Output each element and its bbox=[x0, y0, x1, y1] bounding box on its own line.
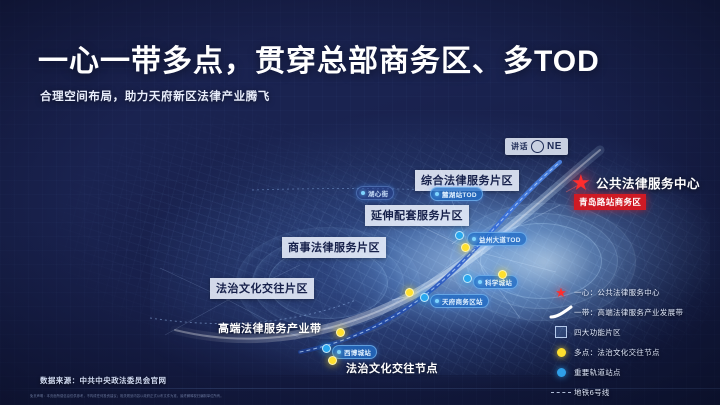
area-label-extended-support: 延伸配套服务片区 bbox=[365, 205, 469, 226]
logo-ne-text: NE bbox=[547, 141, 562, 152]
station-chip-label: 麓湖站TOD bbox=[442, 189, 477, 199]
blue-station-point-icon bbox=[420, 293, 429, 302]
legend-item-stations: 重要轨道站点 bbox=[548, 362, 713, 382]
legend-item-center: ★ 一心：公共法律服务中心 bbox=[548, 282, 713, 302]
qingdao-road-cbd-badge: 青岛路站商务区 bbox=[574, 194, 646, 210]
legend-label: 多点：法治文化交往节点 bbox=[574, 347, 660, 358]
yellow-node-point-icon bbox=[336, 328, 345, 337]
disclaimer-microprint: 免责声明：本页面所载信息仅供参考，不构成任何投资建议；相关规划内容以政府正式公布… bbox=[30, 394, 690, 399]
station-chip-label: 益州大道TOD bbox=[479, 234, 521, 244]
station-dot-icon bbox=[435, 192, 439, 196]
square-outline-icon bbox=[548, 326, 574, 338]
legend-label: 四大功能片区 bbox=[574, 327, 621, 338]
station-chip-label: 天府商务区站 bbox=[442, 296, 483, 306]
station-dot-icon bbox=[361, 191, 365, 195]
yellow-node-point-icon bbox=[405, 288, 414, 297]
legend-item-zones: 四大功能片区 bbox=[548, 322, 713, 342]
blue-station-point-icon bbox=[463, 274, 472, 283]
yellow-node-point-icon bbox=[498, 270, 507, 279]
data-source-note: 数据来源：中共中央政法委员会官网 bbox=[40, 375, 166, 386]
page-title: 一心一带多点，贯穿总部商务区、多TOD bbox=[38, 36, 600, 80]
station-chip-tianfu-cbd[interactable]: 天府商务区站 bbox=[430, 294, 489, 308]
legend: ★ 一心：公共法律服务中心 一带：高端法律服务产业发展带 四大功能片区 多点：法… bbox=[548, 282, 713, 402]
yellow-node-point-icon bbox=[328, 356, 337, 365]
station-chip-label: 西博城站 bbox=[344, 347, 371, 357]
area-label-high-end-belt: 高端法律服务产业带 bbox=[212, 318, 328, 339]
circle-o-icon bbox=[531, 140, 544, 153]
legend-item-metro: 地铁6号线 bbox=[548, 382, 713, 402]
station-chip-label: 湖心街 bbox=[368, 188, 388, 198]
legend-item-belt: 一带：高端法律服务产业发展带 bbox=[548, 302, 713, 322]
station-chip-huxinjie[interactable]: 湖心街 bbox=[356, 186, 394, 200]
station-dot-icon bbox=[435, 299, 439, 303]
dashed-line-icon bbox=[548, 392, 574, 393]
white-belt-icon bbox=[548, 305, 574, 319]
logo-cn-text: 讲话 bbox=[511, 141, 528, 152]
station-chip-science-city[interactable]: 科学城站 bbox=[473, 275, 518, 289]
page-subtitle: 合理空间布局，助力天府新区法律产业腾飞 bbox=[40, 88, 270, 104]
center-callout-label: 公共法律服务中心 bbox=[596, 173, 700, 192]
red-star-icon: ★ bbox=[571, 172, 593, 194]
legend-item-nodes: 多点：法治文化交往节点 bbox=[548, 342, 713, 362]
yellow-node-point-icon bbox=[461, 243, 470, 252]
footer-divider bbox=[0, 388, 720, 389]
station-dot-icon bbox=[337, 350, 341, 354]
blue-station-point-icon bbox=[455, 231, 464, 240]
blue-dot-icon bbox=[548, 368, 574, 377]
legend-label: 重要轨道站点 bbox=[574, 367, 621, 378]
yellow-dot-icon bbox=[548, 348, 574, 357]
station-chip-luhu-tod[interactable]: 麓湖站TOD bbox=[430, 187, 483, 201]
area-label-commercial-legal: 商事法律服务片区 bbox=[282, 237, 386, 258]
blue-station-point-icon bbox=[322, 344, 331, 353]
legend-label: 一带：高端法律服务产业发展带 bbox=[574, 307, 683, 318]
area-label-rule-of-law-culture: 法治文化交往片区 bbox=[210, 278, 314, 299]
station-chip-xiboCheng[interactable]: 西博城站 bbox=[332, 345, 377, 359]
station-chip-label: 科学城站 bbox=[485, 277, 512, 287]
station-dot-icon bbox=[478, 280, 482, 284]
station-dot-icon bbox=[472, 237, 476, 241]
area-label-culture-node: 法治文化交往节点 bbox=[340, 358, 444, 379]
legend-label: 一心：公共法律服务中心 bbox=[574, 287, 660, 298]
slide-canvas: 一心一带多点，贯穿总部商务区、多TOD 合理空间布局，助力天府新区法律产业腾飞 … bbox=[0, 0, 720, 405]
one-logo-badge: 讲话 NE bbox=[505, 138, 568, 155]
station-chip-yizhou-avenue-tod[interactable]: 益州大道TOD bbox=[467, 232, 527, 246]
red-star-icon: ★ bbox=[548, 286, 574, 299]
